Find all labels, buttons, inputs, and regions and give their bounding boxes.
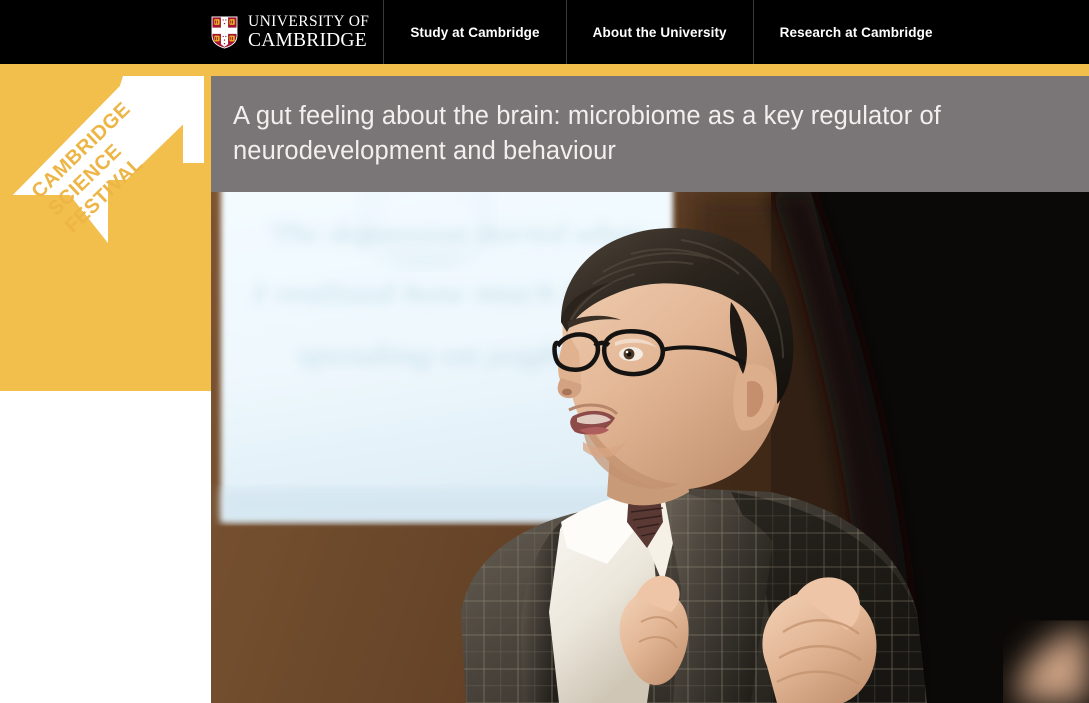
university-wordmark: UNIVERSITY OF CAMBRIDGE bbox=[248, 14, 369, 50]
page-title: A gut feeling about the brain: microbiom… bbox=[211, 99, 1089, 169]
cambridge-science-festival-arrow-logo[interactable]: CAMBRIDGE SCIENCE FESTIVAL bbox=[8, 76, 208, 268]
university-brand-link[interactable]: UNIVERSITY OF CAMBRIDGE bbox=[0, 0, 383, 64]
slide-text-line-1: 'The depression started when bbox=[265, 218, 643, 248]
festival-branding-panel: CAMBRIDGE SCIENCE FESTIVAL bbox=[0, 76, 211, 391]
nav-item-study-at-cambridge[interactable]: Study at Cambridge bbox=[383, 0, 565, 64]
event-hero-photo: 'The depression started when I realised … bbox=[211, 192, 1089, 703]
cambridge-shield-icon bbox=[211, 16, 238, 49]
nav-item-research-at-cambridge[interactable]: Research at Cambridge bbox=[753, 0, 959, 64]
wordmark-line-2: CAMBRIDGE bbox=[248, 31, 369, 51]
page-left-whitespace bbox=[0, 391, 211, 703]
wordmark-line-1: UNIVERSITY OF bbox=[248, 14, 369, 30]
site-header-nav: UNIVERSITY OF CAMBRIDGE Study at Cambrid… bbox=[0, 0, 1089, 64]
page-root: UNIVERSITY OF CAMBRIDGE Study at Cambrid… bbox=[0, 0, 1089, 703]
event-title-banner: A gut feeling about the brain: microbiom… bbox=[211, 76, 1089, 192]
nav-item-about-the-university[interactable]: About the University bbox=[566, 0, 753, 64]
accent-stripe bbox=[0, 64, 1089, 76]
